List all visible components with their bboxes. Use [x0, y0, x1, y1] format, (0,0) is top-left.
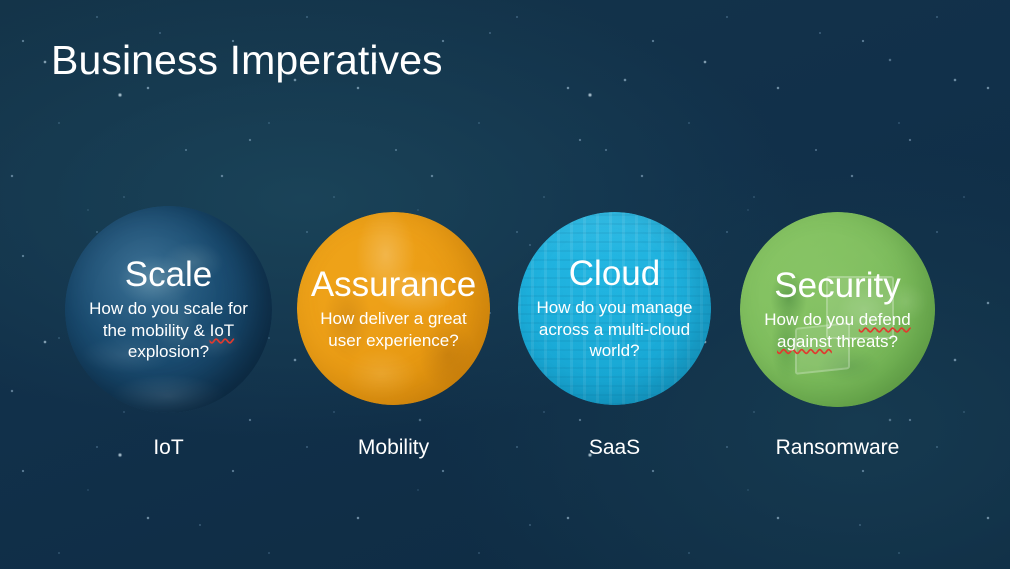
- slide-title: Business Imperatives: [51, 38, 443, 83]
- pillar-question-cloud: How do you manage across a multi-cloud w…: [526, 297, 703, 362]
- pillar-heading-security: Security: [748, 267, 927, 304]
- misspelled-word-iot: IoT: [210, 321, 235, 340]
- pillar-caption-ransomware: Ransomware: [740, 436, 935, 460]
- slide-canvas: Business Imperatives Scale How do you sc…: [0, 0, 1010, 569]
- question-line-2: across a multi-cloud: [539, 320, 690, 339]
- pillar-circle-assurance[interactable]: Assurance How deliver a great user exper…: [297, 212, 490, 405]
- question-line-1: How deliver a great: [320, 309, 466, 328]
- pillar-caption-iot: IoT: [65, 436, 272, 460]
- pillar-question-security: How do you defend against threats?: [748, 309, 927, 353]
- question-line-2-suffix: threats?: [832, 332, 898, 351]
- question-line-3: explosion?: [128, 342, 209, 361]
- pillar-heading-scale: Scale: [73, 256, 264, 293]
- pillar-caption-mobility: Mobility: [297, 436, 490, 460]
- pillar-circle-security[interactable]: Security How do you defend against threa…: [740, 212, 935, 407]
- misspelled-word-defend: defend: [859, 310, 911, 329]
- question-line-1: How do you manage: [537, 298, 693, 317]
- pillar-question-scale: How do you scale for the mobility & IoT …: [73, 298, 264, 363]
- question-line-3: world?: [589, 341, 639, 360]
- pillar-circle-scale[interactable]: Scale How do you scale for the mobility …: [65, 206, 272, 413]
- question-line-1: How do you scale for: [89, 299, 248, 318]
- question-line-2: user experience?: [328, 331, 458, 350]
- pillar-caption-saas: SaaS: [518, 436, 711, 460]
- pillar-heading-assurance: Assurance: [305, 266, 482, 303]
- misspelled-word-against: against: [777, 332, 832, 351]
- pillar-question-assurance: How deliver a great user experience?: [305, 308, 482, 352]
- question-line-2-prefix: the mobility &: [103, 321, 210, 340]
- question-line-1-prefix: How do you: [764, 310, 859, 329]
- pillar-circle-cloud[interactable]: Cloud How do you manage across a multi-c…: [518, 212, 711, 405]
- pillar-heading-cloud: Cloud: [526, 255, 703, 292]
